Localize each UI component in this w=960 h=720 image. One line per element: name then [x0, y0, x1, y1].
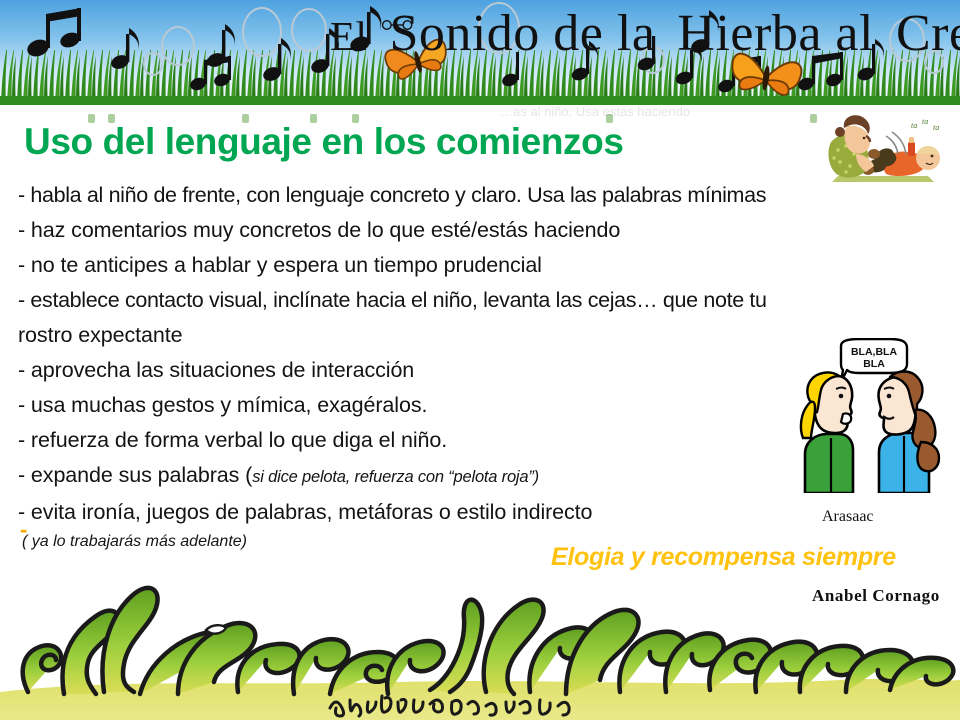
boy-and-girl-talking-pictogram: BLA,BLA BLA — [797, 338, 957, 493]
body-line: - evita ironía, juegos de palabras, metá… — [18, 495, 938, 530]
banner-title-part-1: Sonido de la — [389, 5, 655, 62]
expande-main: - expande sus palabras ( — [18, 463, 252, 487]
author-name: Anabel Cornago — [812, 586, 940, 606]
expande-example: si dice pelota, refuerza con “pelota roj… — [252, 468, 539, 486]
praise-text: Elogia y recompensa siempre — [551, 543, 896, 572]
svg-text:ta: ta — [922, 117, 928, 126]
header-banner: ElSonido de laHierba alCrecer — [0, 0, 960, 105]
hand-drawn-grass-illustration — [0, 560, 960, 720]
speech-line-2: BLA — [863, 358, 885, 370]
mother-playing-with-baby-illustration: ta ta ta — [812, 110, 952, 186]
svg-text:ta: ta — [933, 123, 939, 132]
banner-title-part-3: Crecer — [896, 5, 960, 62]
banner-title-sonido: Sonido de la — [389, 5, 655, 62]
banner-title-part-0: El — [330, 13, 367, 59]
speech-line-1: BLA,BLA — [851, 346, 897, 358]
slide-root: ElSonido de laHierba alCrecer …as al niñ… — [0, 0, 960, 720]
svg-text:ta: ta — [911, 121, 917, 130]
body-line: - establece contacto visual, inclínate h… — [18, 283, 938, 318]
glasses-icon — [380, 19, 416, 31]
banner-title: ElSonido de laHierba alCrecer — [330, 4, 960, 63]
body-line: - habla al niño de frente, con lenguaje … — [18, 178, 938, 213]
banner-title-part-2: Hierba al — [677, 5, 874, 62]
body-line: - haz comentarios muy concretos de lo qu… — [18, 213, 938, 248]
body-line: - no te anticipes a hablar y espera un t… — [18, 248, 938, 283]
orange-dash-marker: - — [20, 525, 27, 535]
arasaac-credit: Arasaac — [822, 508, 874, 526]
